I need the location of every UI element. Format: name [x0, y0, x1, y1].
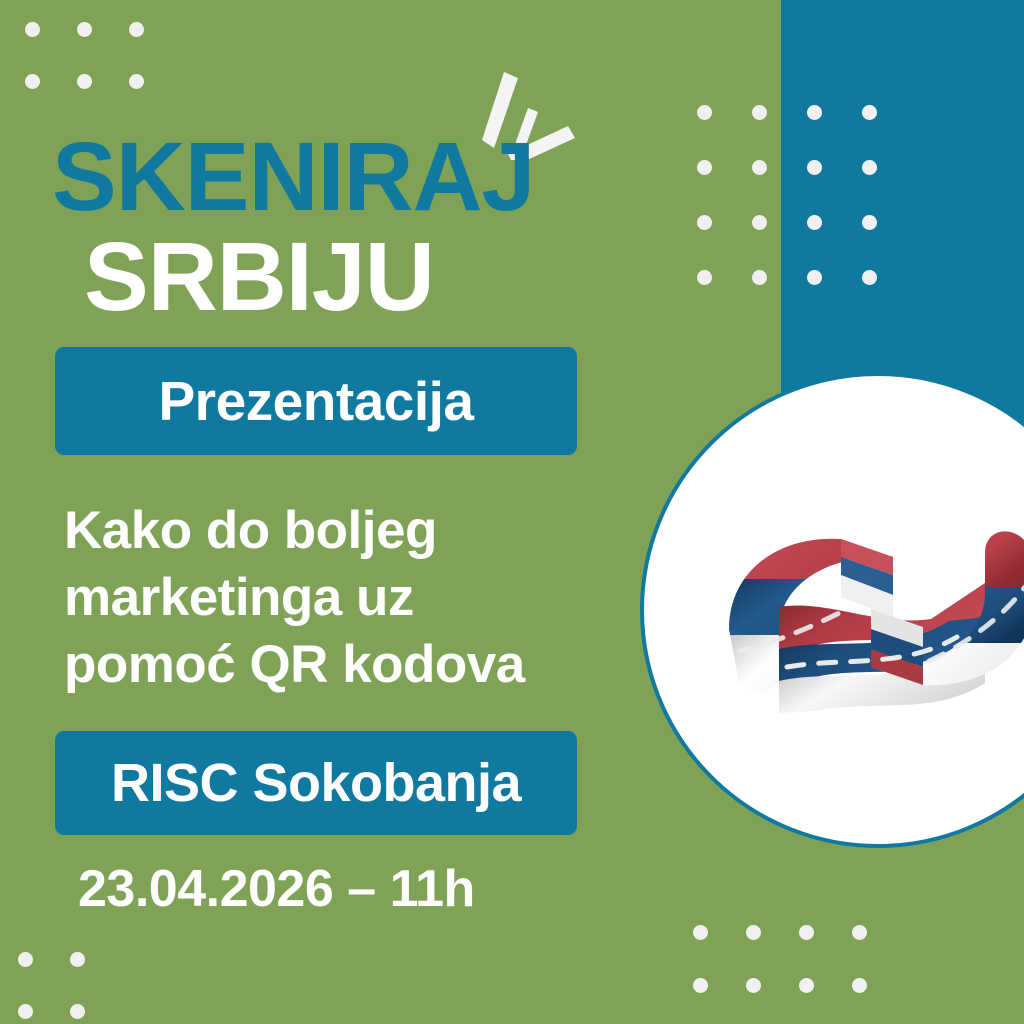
- decorative-dot: [697, 105, 712, 120]
- decorative-dot: [807, 160, 822, 175]
- text-content-block: SKENIRAJ SRBIJU Prezentacija Kako do bol…: [0, 0, 660, 1024]
- subtitle-line-1: Kako do boljeg: [64, 498, 624, 565]
- white-circle-emblem: [640, 372, 1024, 848]
- decorative-dot: [697, 215, 712, 230]
- headline-secondary: SRBIJU: [84, 228, 434, 325]
- decorative-dot: [693, 978, 708, 993]
- promo-poster: SKENIRAJ SRBIJU Prezentacija Kako do bol…: [0, 0, 1024, 1024]
- decorative-dot: [862, 105, 877, 120]
- decorative-dot: [799, 978, 814, 993]
- decorative-dot: [752, 160, 767, 175]
- decorative-dot: [807, 215, 822, 230]
- decorative-dot: [862, 270, 877, 285]
- decorative-dot: [746, 978, 761, 993]
- decorative-dot: [862, 215, 877, 230]
- headline-primary: SKENIRAJ: [52, 128, 535, 225]
- subtitle-line-2: marketinga uz: [64, 565, 624, 632]
- subtitle-description: Kako do boljeg marketinga uz pomoć QR ko…: [64, 498, 624, 698]
- badge-presentation: Prezentacija: [55, 347, 577, 455]
- decorative-dot: [697, 160, 712, 175]
- decorative-dot: [852, 925, 867, 940]
- decorative-dot: [807, 270, 822, 285]
- decorative-dot: [746, 925, 761, 940]
- decorative-dot: [752, 215, 767, 230]
- decorative-dot: [697, 270, 712, 285]
- serbian-flag-ribbon-icon: [644, 376, 1024, 848]
- decorative-dot: [807, 105, 822, 120]
- decorative-dot: [852, 978, 867, 993]
- badge-venue: RISC Sokobanja: [55, 731, 577, 835]
- decorative-dot: [862, 160, 877, 175]
- decorative-dot: [799, 925, 814, 940]
- decorative-dot: [752, 270, 767, 285]
- decorative-dot: [693, 925, 708, 940]
- event-datetime: 23.04.2026 – 11h: [78, 863, 475, 915]
- decorative-dot: [752, 105, 767, 120]
- subtitle-line-3: pomoć QR kodova: [64, 632, 624, 699]
